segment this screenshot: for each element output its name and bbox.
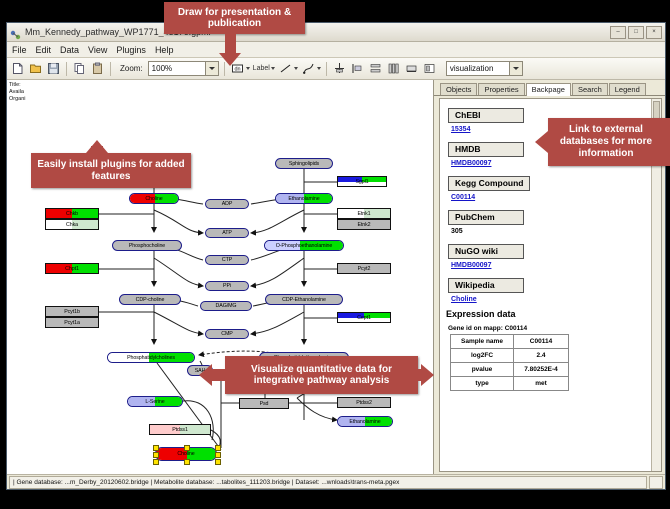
node-label: Pcyt1a xyxy=(64,320,80,326)
gene-node[interactable]: Etnk1 xyxy=(337,208,391,219)
selection-handle[interactable] xyxy=(184,459,190,465)
expression-key: type xyxy=(451,377,514,391)
metabolite-node[interactable]: PPi xyxy=(205,281,249,291)
metabolite-node[interactable]: Phosphatidylcholines xyxy=(107,352,195,363)
callout-plugins: Easily install plugins for added feature… xyxy=(31,153,191,188)
zoom-chevron-down-icon[interactable] xyxy=(205,62,218,75)
node-label: Ptdss1 xyxy=(172,427,188,433)
expression-value: 7.80252E-4 xyxy=(514,363,569,377)
maximize-button[interactable]: □ xyxy=(628,26,644,39)
node-label: Ethanolamine xyxy=(349,419,380,425)
node-label: L-Serine xyxy=(145,399,164,405)
database-block: WikipediaCholine xyxy=(448,275,661,303)
node-label: Phosphatidylcholines xyxy=(127,355,175,361)
expression-table: Sample nameC00114log2FC2.4pvalue7.80252E… xyxy=(450,334,569,391)
gene-node[interactable]: Chka xyxy=(45,219,99,230)
callout-visualize-text: Visualize quantitative data for integrat… xyxy=(229,364,414,387)
pathway-edges xyxy=(7,80,433,474)
align-center-icon[interactable] xyxy=(332,61,347,76)
save-icon[interactable] xyxy=(46,61,61,76)
database-block: PubChem305 xyxy=(448,207,661,235)
distribute-icon[interactable] xyxy=(386,61,401,76)
node-label: PPi xyxy=(223,283,231,289)
database-name: Wikipedia xyxy=(448,278,524,293)
copy-icon[interactable] xyxy=(72,61,87,76)
database-name: HMDB xyxy=(448,142,524,157)
gene-id-label: Gene id on mapp: C00114 xyxy=(448,325,661,332)
line-chevron-down-icon[interactable] xyxy=(294,67,298,70)
node-label: Etnk1 xyxy=(357,211,370,217)
node-label: Etnk2 xyxy=(357,222,370,228)
metabolite-node[interactable]: ADP xyxy=(205,199,249,209)
align-left-icon[interactable] xyxy=(350,61,365,76)
group-icon[interactable] xyxy=(404,61,419,76)
svg-text:dn: dn xyxy=(234,67,240,73)
expression-value: 2.4 xyxy=(514,349,569,363)
title-bar: Mm_Kennedy_pathway_WP1771_45176.gpml – □… xyxy=(7,23,665,42)
callout-visualize-stem-right xyxy=(409,369,423,381)
database-link[interactable]: HMDB00097 xyxy=(451,262,661,269)
order-icon[interactable] xyxy=(422,61,437,76)
pathvisio-window: Mm_Kennedy_pathway_WP1771_45176.gpml – □… xyxy=(6,22,666,490)
stack-icon[interactable] xyxy=(368,61,383,76)
canvas-metadata: Title: Availa Organi xyxy=(9,82,26,103)
app-icon xyxy=(10,27,21,38)
metabolite-node[interactable]: Ethanolamine xyxy=(337,416,393,427)
expression-row: Sample nameC00114 xyxy=(451,335,569,349)
gene-node[interactable]: Pcyt1b xyxy=(45,306,99,317)
expression-key: Sample name xyxy=(451,335,514,349)
interaction-chevron-down-icon[interactable] xyxy=(317,67,321,70)
expression-value: C00114 xyxy=(514,335,569,349)
expression-data-title: Expression data xyxy=(446,309,661,319)
node-label: Sgpl1 xyxy=(355,179,368,185)
menu-data[interactable]: Data xyxy=(60,45,79,55)
metabolite-node[interactable]: CDP-Ethanolamine xyxy=(265,294,343,305)
interaction-icon[interactable] xyxy=(301,61,316,76)
metabolite-node[interactable]: Choline xyxy=(129,193,179,204)
callout-draw-stem xyxy=(225,33,236,54)
toolbar-separator-2 xyxy=(110,62,111,76)
status-text: | Gene database: ...m_Derby_20120602.bri… xyxy=(9,476,647,489)
node-label: Psd xyxy=(260,401,269,407)
expression-row: log2FC2.4 xyxy=(451,349,569,363)
menu-view[interactable]: View xyxy=(88,45,107,55)
expression-row: typemet xyxy=(451,377,569,391)
metabolite-node[interactable]: CMP xyxy=(205,329,249,339)
metabolite-node[interactable]: Phosphocholine xyxy=(112,240,182,251)
new-file-icon[interactable] xyxy=(10,61,25,76)
paste-icon[interactable] xyxy=(90,61,105,76)
node-label: ADP xyxy=(222,201,233,207)
database-name: ChEBI xyxy=(448,108,524,123)
window-controls: – □ × xyxy=(610,26,662,39)
zoom-label: Zoom: xyxy=(120,64,143,73)
callout-visualize-stem-left xyxy=(210,369,226,381)
metabolite-node[interactable]: O-Phosphoethanolamine xyxy=(264,240,344,251)
tab-search[interactable]: Search xyxy=(572,83,608,95)
tab-backpage[interactable]: Backpage xyxy=(526,83,571,96)
node-label: CMP xyxy=(221,331,232,337)
node-label: CDP-Ethanolamine xyxy=(282,297,326,303)
node-label: O-Phosphoethanolamine xyxy=(276,243,333,249)
expression-key: pvalue xyxy=(451,363,514,377)
callout-links-stem xyxy=(543,136,553,148)
node-label: Ethanolamine xyxy=(288,196,319,202)
status-bar: | Gene database: ...m_Derby_20120602.bri… xyxy=(7,474,665,489)
metabolite-node[interactable]: L-Serine xyxy=(127,396,183,407)
metabolite-node[interactable]: Sphingolipids xyxy=(275,158,333,169)
database-name: Kegg Compound xyxy=(448,176,530,191)
callout-links xyxy=(548,118,670,166)
node-label: Pcyt2 xyxy=(358,266,371,272)
selection-handle[interactable] xyxy=(215,452,221,458)
expression-key: log2FC xyxy=(451,349,514,363)
gene-node[interactable]: Pcyt2 xyxy=(337,263,391,274)
selection-handle[interactable] xyxy=(184,445,190,451)
pathway-canvas[interactable]: Title: Availa Organi xyxy=(7,80,434,474)
tab-legend[interactable]: Legend xyxy=(609,83,646,95)
callout-draw: Draw for presentation & publication xyxy=(164,2,305,34)
gene-node[interactable]: Chkb xyxy=(45,208,99,219)
zoom-combo[interactable]: 100% xyxy=(148,61,219,76)
selection-handle[interactable] xyxy=(215,445,221,451)
open-folder-icon[interactable] xyxy=(28,61,43,76)
gene-node[interactable]: Ptdss1 xyxy=(149,424,211,435)
callout-plugins-stem xyxy=(91,146,103,156)
tab-properties[interactable]: Properties xyxy=(478,83,524,95)
line-icon[interactable] xyxy=(278,61,293,76)
node-label: DAG/MG xyxy=(216,303,237,309)
panel-tabs: Objects Properties Backpage Search Legen… xyxy=(434,80,665,96)
metabolite-node[interactable]: CDP-choline xyxy=(119,294,181,305)
metabolite-node[interactable]: CTP xyxy=(205,255,249,265)
label-chevron-down-icon[interactable] xyxy=(271,67,275,70)
database-value: 305 xyxy=(451,228,661,235)
database-name: NuGO wiki xyxy=(448,244,524,259)
selection-handle[interactable] xyxy=(153,452,159,458)
interaction-tool[interactable] xyxy=(301,61,321,76)
gene-node[interactable]: Psd xyxy=(239,398,289,409)
gene-node[interactable]: Cept1 xyxy=(337,312,391,323)
selection-handle[interactable] xyxy=(153,459,159,465)
node-label: Choline xyxy=(177,451,194,457)
gene-node[interactable]: Sgpl1 xyxy=(337,176,387,187)
expression-row: pvalue7.80252E-4 xyxy=(451,363,569,377)
toolbar: Zoom: 100% dn Label xyxy=(7,58,665,80)
label-tool[interactable]: Label xyxy=(253,65,275,72)
metabolite-node[interactable]: ATP xyxy=(205,228,249,238)
status-resize-grip xyxy=(649,476,663,489)
database-link[interactable]: C00114 xyxy=(451,194,661,201)
node-label: Choline xyxy=(145,196,162,202)
visualization-combo[interactable]: visualization xyxy=(446,61,523,76)
node-label: Pcyt1b xyxy=(64,309,80,315)
selection-handle[interactable] xyxy=(215,459,221,465)
menu-help[interactable]: Help xyxy=(155,45,174,55)
gene-node[interactable]: Ptdss2 xyxy=(337,397,391,408)
callout-draw-text: Draw for presentation & publication xyxy=(168,7,301,30)
callout-draw-arrow-icon xyxy=(219,53,241,66)
tab-objects[interactable]: Objects xyxy=(440,83,477,95)
label-tool-text: Label xyxy=(253,65,270,72)
node-label: Sphingolipids xyxy=(289,161,319,167)
callout-visualize: Visualize quantitative data for integrat… xyxy=(225,356,418,394)
database-block: NuGO wikiHMDB00097 xyxy=(448,241,661,269)
meta-availability: Availa xyxy=(9,89,26,96)
expression-value: met xyxy=(514,377,569,391)
node-label: ATP xyxy=(222,230,232,236)
visualization-value: visualization xyxy=(450,64,494,73)
toolbar-separator xyxy=(66,62,67,76)
gene-node[interactable]: Chpt1 xyxy=(45,263,99,274)
meta-organism: Organi xyxy=(9,96,26,103)
gene-node[interactable]: Etnk2 xyxy=(337,219,391,230)
meta-title: Title: xyxy=(9,82,26,89)
node-label: Phosphocholine xyxy=(129,243,165,249)
line-tool[interactable] xyxy=(278,61,298,76)
gene-node[interactable]: Pcyt1a xyxy=(45,317,99,328)
callout-plugins-text: Easily install plugins for added feature… xyxy=(35,159,187,182)
node-label: CDP-choline xyxy=(136,297,165,303)
node-label: Chkb xyxy=(66,211,78,217)
database-name: PubChem xyxy=(448,210,524,225)
minimize-button[interactable]: – xyxy=(610,26,626,39)
node-label: Cept1 xyxy=(357,315,371,321)
toolbar-separator-4 xyxy=(326,62,327,76)
menu-bar: File Edit Data View Plugins Help xyxy=(7,42,665,58)
close-button[interactable]: × xyxy=(646,26,662,39)
menu-edit[interactable]: Edit xyxy=(36,45,52,55)
metabolite-node[interactable]: Ethanolamine xyxy=(275,193,333,204)
node-label: Ptdss2 xyxy=(356,400,372,406)
database-link[interactable]: Choline xyxy=(451,296,661,303)
node-label: Chka xyxy=(66,222,78,228)
datanode-chevron-down-icon[interactable] xyxy=(246,67,250,70)
zoom-value: 100% xyxy=(152,64,172,73)
metabolite-node[interactable]: DAG/MG xyxy=(200,301,252,311)
menu-plugins[interactable]: Plugins xyxy=(116,45,146,55)
selection-handle[interactable] xyxy=(153,445,159,451)
menu-file[interactable]: File xyxy=(12,45,27,55)
database-block: Kegg CompoundC00114 xyxy=(448,173,661,201)
visualization-chevron-down-icon[interactable] xyxy=(509,62,522,75)
node-label: Chpt1 xyxy=(65,266,79,272)
node-label: CTP xyxy=(222,257,232,263)
